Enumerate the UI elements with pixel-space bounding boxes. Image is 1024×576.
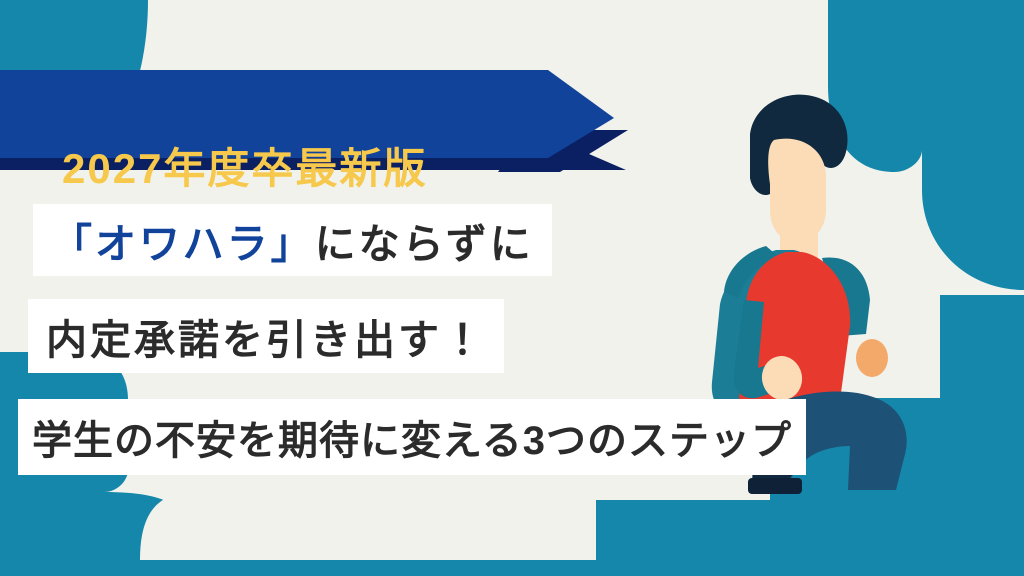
person-hand-far <box>856 339 888 377</box>
bottom-band-shape <box>0 560 1024 576</box>
ribbon-label: 2027年度卒最新版 <box>62 138 532 200</box>
headline-line-1-rest: にならずに <box>315 210 534 270</box>
headline-line-2-text: 内定承諾を引き出す！ <box>46 306 486 366</box>
person-front-shoe <box>748 478 802 494</box>
headline-line-3-text: 学生の不安を期待に変える3つのステップ <box>32 408 792 466</box>
ribbon-banner: 2027年度卒最新版 <box>0 62 660 172</box>
headline-line-1-plate: 「オワハラ」 にならずに <box>33 204 552 276</box>
headline-line-3-plate: 学生の不安を期待に変える3つのステップ <box>18 399 806 475</box>
slide-canvas: 2027年度卒最新版 「オワハラ」 にならずに 内定承諾を引き出す！ 学生の不安… <box>0 0 1024 576</box>
headline-line-1-quoted-term: 「オワハラ」 <box>51 210 315 270</box>
headline-line-2-plate: 内定承諾を引き出す！ <box>28 299 504 373</box>
person-head <box>768 139 826 243</box>
